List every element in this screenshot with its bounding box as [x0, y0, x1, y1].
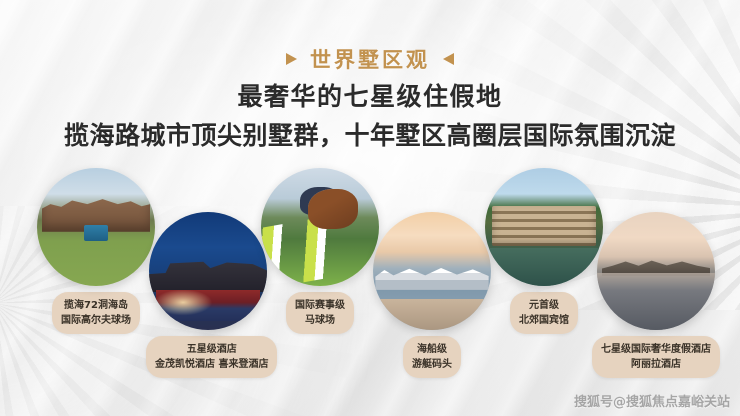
dusk-villa-photo	[597, 212, 715, 330]
watermark: 搜狐号@搜狐焦点嘉峪关站	[574, 391, 730, 410]
caption-line-1: 七星级国际奢华度假酒店	[601, 342, 711, 357]
amenity-item-marina[interactable]: 海船级 游艇码头	[370, 212, 494, 378]
night-hotel-image	[149, 212, 267, 330]
caption-line-2: 北郊国宾馆	[519, 313, 569, 328]
amenity-item-alila[interactable]: 七星级国际奢华度假酒店 阿丽拉酒店	[586, 212, 726, 378]
promo-poster: 世界墅区观 最奢华的七星级住假地 揽海路城市顶尖别墅群，十年墅区高圈层国际氛围沉…	[0, 0, 740, 416]
amenity-item-hotel[interactable]: 五星级酒店 金茂凯悦酒店 喜来登酒店	[146, 212, 270, 378]
kicker-label: 世界墅区观	[310, 44, 430, 74]
amenity-caption-hotel: 五星级酒店 金茂凯悦酒店 喜来登酒店	[146, 336, 277, 378]
watermark-label: 搜狐号@搜狐焦点嘉峪关站	[574, 391, 730, 410]
amenity-caption-wrap: 海船级 游艇码头	[370, 330, 494, 378]
amenity-caption-wrap: 五星级酒店 金茂凯悦酒店 喜来登酒店	[146, 330, 270, 378]
amenity-item-polo[interactable]: 国际赛事级 马球场	[258, 168, 382, 334]
amenity-caption-wrap: 七星级国际奢华度假酒店 阿丽拉酒店	[586, 330, 726, 378]
caption-line-1: 国际赛事级	[295, 298, 345, 313]
caption-line-1: 元首级	[519, 298, 569, 313]
triangle-right-icon	[286, 53, 297, 65]
caption-line-2: 金茂凯悦酒店 喜来登酒店	[155, 357, 268, 372]
amenity-caption-polo: 国际赛事级 马球场	[286, 292, 354, 334]
marina-yacht-image	[373, 212, 491, 330]
amenity-row: 揽海72洞海岛 国际高尔夫球场 五星级酒店 金茂凯悦酒店 喜来登酒店	[34, 168, 710, 368]
caption-line-2: 马球场	[295, 313, 345, 328]
headline: 最奢华的七星级住假地 揽海路城市顶尖别墅群，十年墅区高圈层国际氛围沉淀	[0, 80, 740, 154]
amenity-caption-marina: 海船级 游艇码头	[403, 336, 461, 378]
amenity-caption-wrap: 揽海72洞海岛 国际高尔夫球场	[34, 286, 158, 334]
golf-resort-image	[37, 168, 155, 286]
dusk-villa-image	[597, 212, 715, 330]
amenity-item-golf[interactable]: 揽海72洞海岛 国际高尔夫球场	[34, 168, 158, 334]
caption-line-2: 国际高尔夫球场	[61, 313, 131, 328]
equestrian-photo	[261, 168, 379, 286]
equestrian-image	[261, 168, 379, 286]
headline-line-2: 揽海路城市顶尖别墅群，十年墅区高圈层国际氛围沉淀	[0, 118, 740, 154]
night-hotel-photo	[149, 212, 267, 330]
amenity-caption-golf: 揽海72洞海岛 国际高尔夫球场	[52, 292, 140, 334]
triangle-left-icon	[443, 53, 454, 65]
headline-line-1: 最奢华的七星级住假地	[0, 80, 740, 114]
amenity-caption-wrap: 国际赛事级 马球场	[258, 286, 382, 334]
golf-resort-photo	[37, 168, 155, 286]
caption-line-1: 海船级	[412, 342, 452, 357]
kicker: 世界墅区观	[0, 44, 740, 74]
caption-line-2: 游艇码头	[412, 357, 452, 372]
caption-line-1: 揽海72洞海岛	[61, 298, 131, 313]
caption-line-1: 五星级酒店	[155, 342, 268, 357]
amenity-caption-alila: 七星级国际奢华度假酒店 阿丽拉酒店	[592, 336, 720, 378]
amenity-caption-guesthouse: 元首级 北郊国宾馆	[510, 292, 578, 334]
caption-line-2: 阿丽拉酒店	[601, 357, 711, 372]
marina-yacht-photo	[373, 212, 491, 330]
